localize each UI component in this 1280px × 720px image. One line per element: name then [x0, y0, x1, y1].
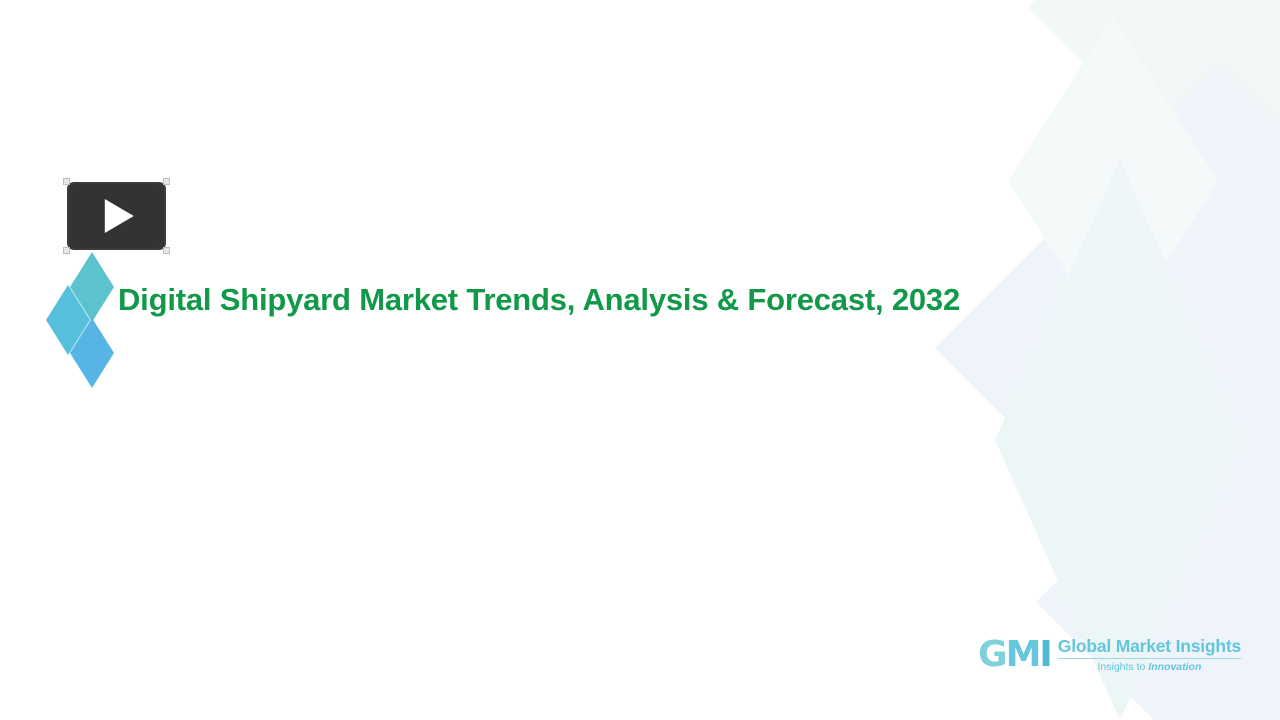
gmi-logo-company-name: Global Market Insights — [1058, 636, 1241, 656]
video-placeholder[interactable] — [67, 182, 166, 250]
watermark-top-right-diamond — [1028, 0, 1280, 198]
selection-handle-top-right[interactable] — [163, 178, 170, 185]
page-title: Digital Shipyard Market Trends, Analysis… — [118, 279, 1168, 321]
gmi-logo-letter-g: G — [978, 634, 1006, 675]
gmi-logo-letter-m: M — [1006, 634, 1040, 675]
diamond-cluster — [46, 252, 116, 388]
gmi-logo-tagline: Insights to Innovation — [1058, 661, 1241, 674]
gmi-logo-letter-i: I — [1039, 634, 1050, 675]
gmi-logo-tagline-emphasis: Innovation — [1148, 661, 1201, 673]
background-watermark-layer — [0, 0, 1280, 720]
play-icon[interactable] — [104, 199, 133, 233]
gmi-logo-tagline-prefix: Insights to — [1098, 661, 1149, 673]
gmi-logo-text: Global Market Insights Insights to Innov… — [1058, 636, 1241, 674]
selection-handle-top-left[interactable] — [63, 178, 70, 185]
selection-handle-bottom-right[interactable] — [163, 247, 170, 254]
video-frame[interactable] — [67, 182, 166, 250]
gmi-logo-mark: GMI — [978, 637, 1051, 673]
watermark-right-large-diamond — [935, 65, 1280, 631]
gmi-logo: GMI Global Market Insights Insights to I… — [978, 631, 1223, 679]
presentation-slide: Digital Shipyard Market Trends, Analysis… — [0, 0, 1280, 720]
gmi-logo-divider — [1058, 658, 1241, 659]
